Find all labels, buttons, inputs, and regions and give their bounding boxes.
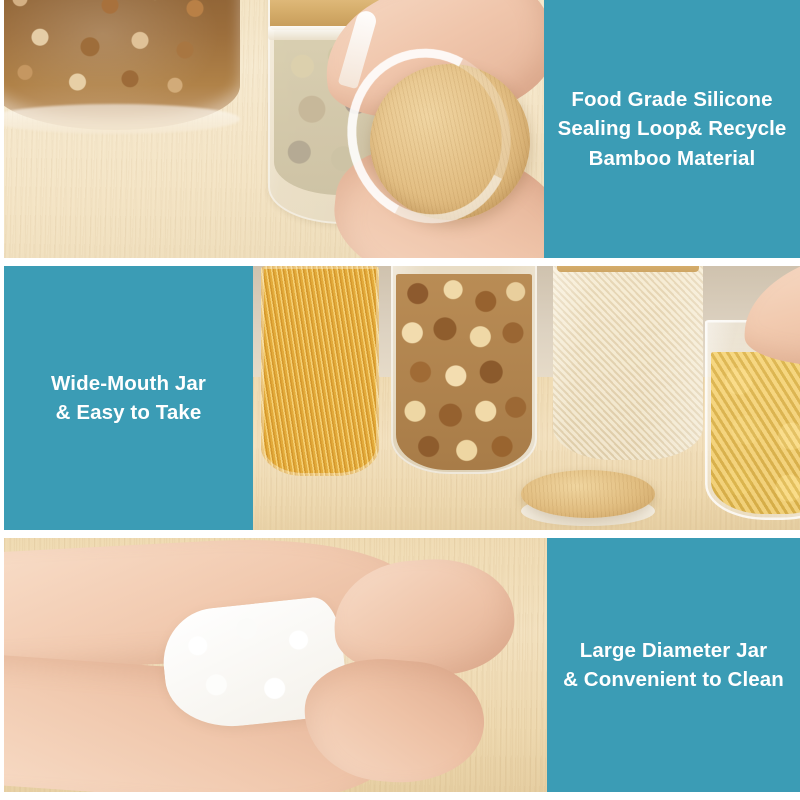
cereal-mix-contents (396, 274, 532, 470)
panel-1-photo (4, 0, 544, 258)
product-feature-collage: Food Grade Silicone Sealing Loop& Recycl… (0, 0, 800, 800)
oats-jar (553, 266, 703, 460)
caption-easy-clean: Large Diameter Jar & Convenient to Clean (547, 538, 800, 792)
panel-divider-bottom (0, 530, 800, 538)
panel-3-photo (4, 538, 547, 792)
oats-jar-lid (557, 266, 699, 272)
caption-wide-mouth: Wide-Mouth Jar & Easy to Take (4, 266, 253, 530)
panel-divider-top (0, 258, 800, 266)
bamboo-lid-on-counter (521, 470, 655, 518)
left-margin (0, 0, 4, 800)
caption-text-easy-clean: Large Diameter Jar & Convenient to Clean (563, 636, 784, 694)
caption-silicone-seal: Food Grade Silicone Sealing Loop& Recycl… (544, 0, 800, 258)
panel-2-photo (253, 266, 800, 530)
fusilli-pasta (711, 352, 800, 514)
bottom-margin (0, 792, 800, 800)
panel-silicone-seal: Food Grade Silicone Sealing Loop& Recycl… (4, 0, 800, 258)
caption-text-silicone-seal: Food Grade Silicone Sealing Loop& Recycl… (558, 85, 787, 172)
panel-wide-mouth: Wide-Mouth Jar & Easy to Take (4, 266, 800, 530)
spaghetti-jar (261, 266, 379, 476)
caption-text-wide-mouth: Wide-Mouth Jar & Easy to Take (51, 369, 206, 427)
panel-easy-clean: Large Diameter Jar & Convenient to Clean (4, 538, 800, 792)
